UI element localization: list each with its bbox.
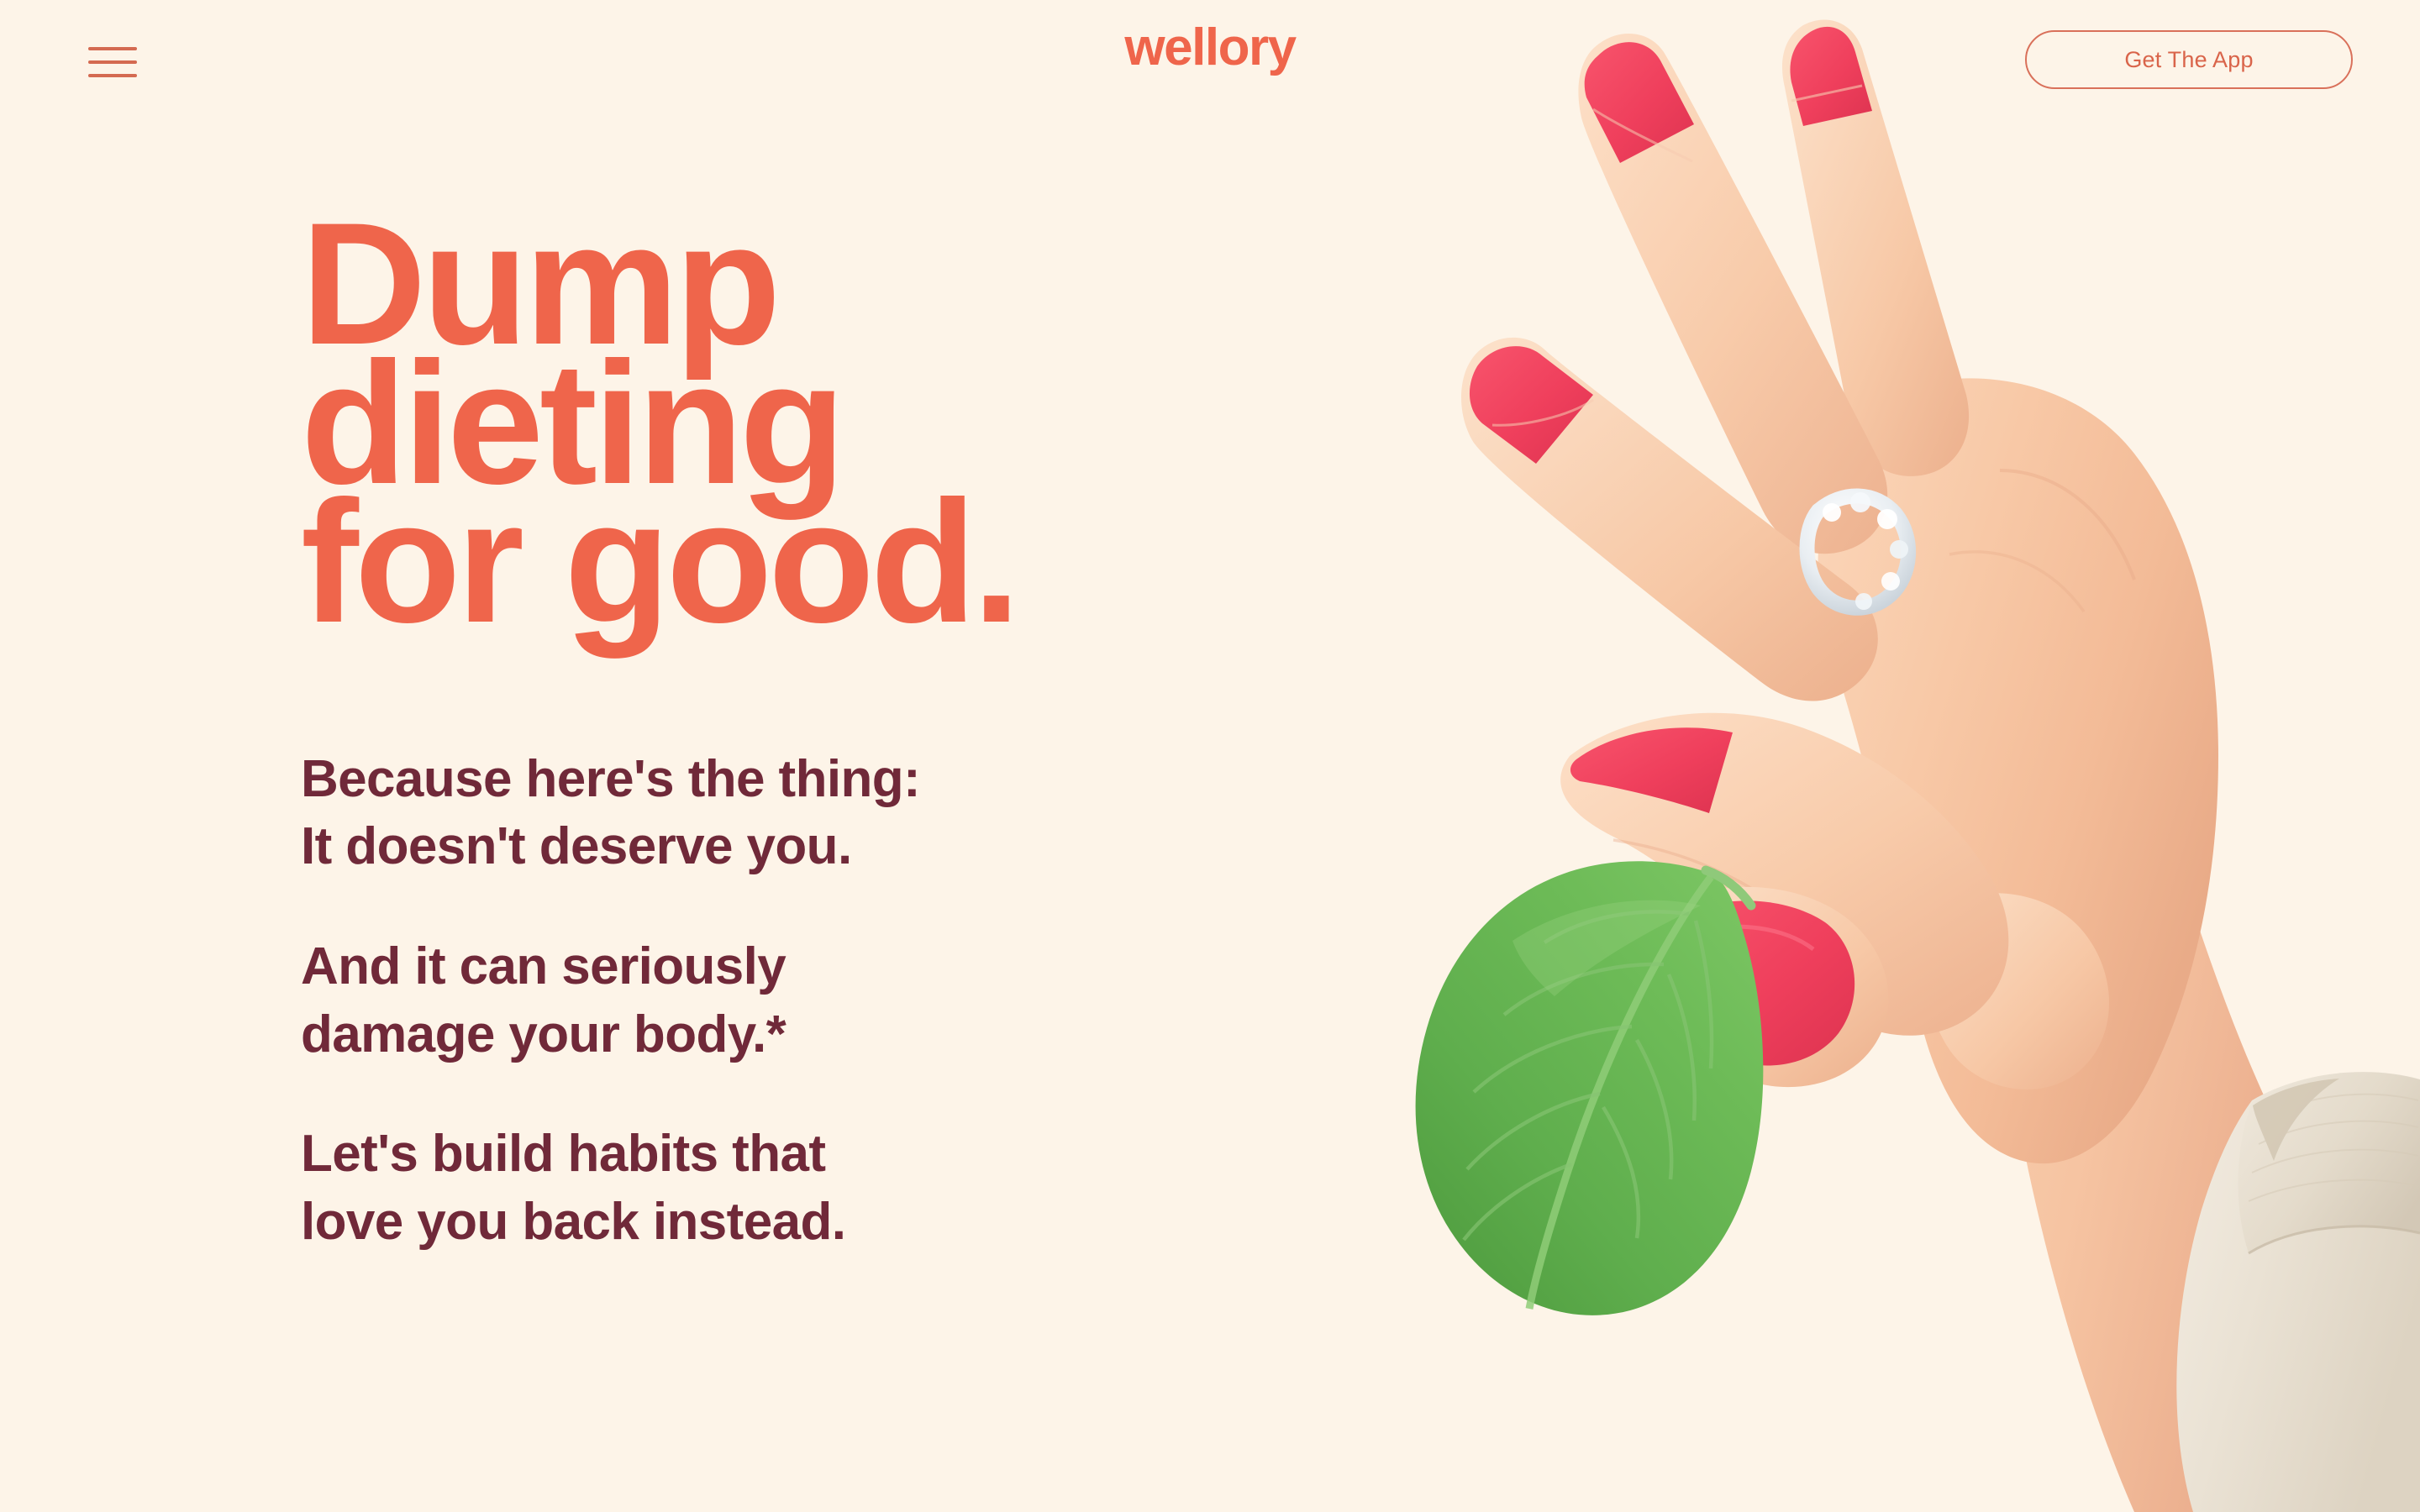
- landing-page: wellory Get The App Dump dieting for goo…: [0, 0, 2420, 1512]
- hero-paragraph-2: And it can seriously damage your body.*: [301, 933, 1351, 1068]
- hero-copy: Dump dieting for good. Because here's th…: [301, 214, 1351, 1256]
- hero-body-copy: Because here's the thing: It doesn't des…: [301, 746, 1351, 1257]
- hamburger-bar-bottom: [88, 74, 137, 77]
- hamburger-bar-middle: [88, 60, 137, 64]
- get-the-app-button[interactable]: Get The App: [2025, 30, 2353, 89]
- hamburger-bar-top: [88, 47, 137, 50]
- hand-leaf-illustration: [1412, 0, 2420, 1512]
- hero-paragraph-3: Let's build habits that love you back in…: [301, 1121, 1351, 1256]
- page-title: Dump dieting for good.: [301, 214, 1351, 632]
- hero-paragraph-1: Because here's the thing: It doesn't des…: [301, 746, 1351, 881]
- brand-logo[interactable]: wellory: [1124, 22, 1295, 74]
- hero-image-hand-with-leaf: [1412, 0, 2420, 1512]
- hamburger-menu-icon[interactable]: [80, 34, 147, 86]
- site-header: wellory Get The App: [0, 0, 2420, 118]
